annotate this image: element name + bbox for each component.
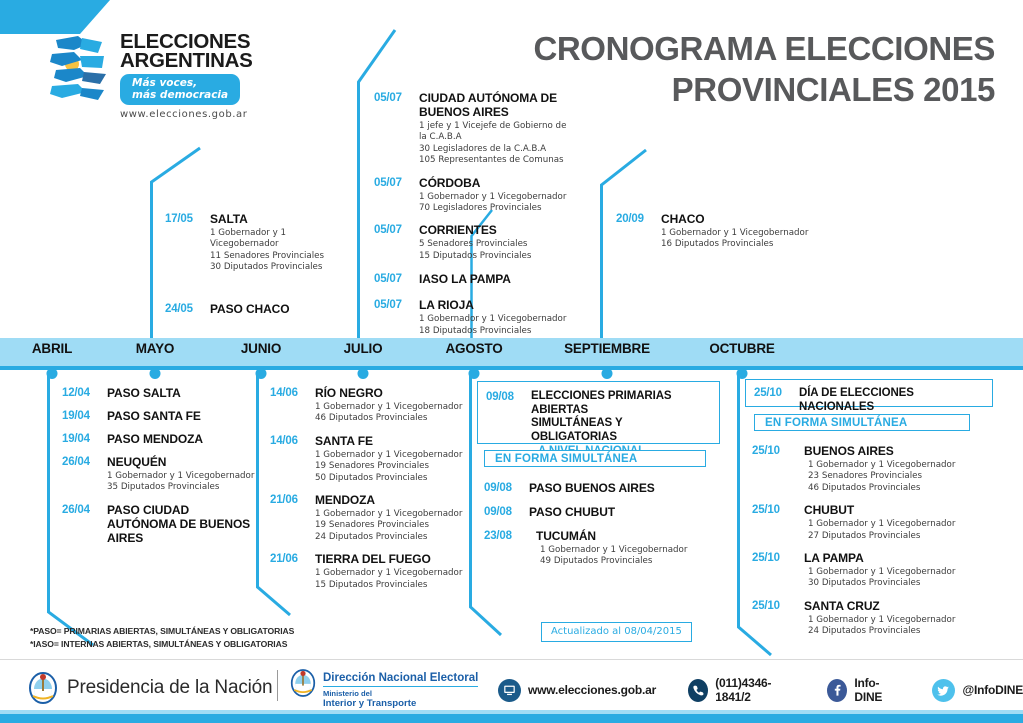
entry-iaso-la-pampa: 05/07 IASO LA PAMPA [374, 272, 574, 286]
entry-date: 25/10 [752, 599, 797, 613]
entry-name: CHACO [654, 212, 705, 226]
entry-salta: 17/05 SALTA 1 Gobernador y 1 Vicegoberna… [165, 212, 355, 274]
dne-ministry-prefix: Ministerio del [323, 689, 478, 698]
facebook-icon [827, 679, 847, 702]
entry-chaco: 20/09 CHACO 1 Gobernador y 1 Vicegoberna… [616, 212, 826, 251]
entry-chubut: 25/10 CHUBUT 1 Gobernador y 1 Vicegobern… [752, 503, 982, 542]
timeline-month-mayo[interactable]: MAYO [136, 341, 174, 356]
entry-date: 25/10 [752, 503, 797, 517]
argentina-map-icon [48, 34, 114, 104]
logo-slogan-line1: Más voces, [132, 77, 228, 89]
entry-details: 1 Gobernador y 1 Vicegobernador 23 Senad… [808, 460, 982, 494]
dne-ministry-name: Interior y Transporte [323, 698, 478, 709]
detail-line: 1 Gobernador y 1 Vicegobernador [315, 450, 470, 461]
detail-line: 1 Gobernador y 1 Vicegobernador [315, 509, 470, 520]
detail-line: 16 Diputados Provinciales [661, 239, 826, 250]
entry-details: 1 Gobernador y 1 Vicegobernador 18 Diput… [419, 314, 574, 337]
detail-line: 15 Diputados Provinciales [419, 251, 574, 262]
entry-date: 26/04 [62, 455, 100, 469]
entry-date: 19/04 [62, 409, 100, 423]
entry-date: 05/07 [374, 272, 412, 286]
entry-name: MENDOZA [308, 493, 375, 507]
entry-name: PASO CHUBUT [522, 505, 615, 519]
detail-line: 30 Diputados Provinciales [210, 262, 355, 273]
detail-line: 1 Gobernador y 1 Vicegobernador [315, 568, 470, 579]
detail-line: 70 Legisladores Provinciales [419, 203, 574, 214]
argentina-coat-of-arms-icon [290, 668, 316, 698]
detail-line: 105 Representantes de Comunas [419, 155, 574, 166]
entry-details: 1 Gobernador y 1 Vicegobernador 35 Diput… [107, 471, 262, 494]
detail-line: 23 Senadores Provinciales [808, 471, 982, 482]
timeline-dot-julio [358, 368, 369, 379]
logo-slogan: Más voces, más democracia [120, 74, 240, 105]
column-julio-top: 05/07 CIUDAD AUTÓNOMA DE BUENOS AIRES 1 … [374, 91, 574, 346]
detail-line: 1 Gobernador y 1 Vicegobernador [808, 519, 982, 530]
callout-elecciones-nacionales: 25/10 DÍA DE ELECCIONES NACIONALES [745, 379, 993, 407]
column-junio: 14/06 RÍO NEGRO 1 Gobernador y 1 Vicegob… [270, 386, 470, 600]
entry-name: IASO LA PAMPA [412, 272, 511, 286]
entry-paso-santa-fe: 19/04 PASO SANTA FE [62, 409, 262, 423]
presidencia-label: Presidencia de la Nación [58, 677, 272, 699]
phone-icon [688, 679, 708, 702]
detail-line: 11 Senadores Provinciales [210, 251, 355, 262]
detail-line: 1 Gobernador y 1 Vicegobernador [540, 545, 704, 556]
column-mayo-top: 17/05 SALTA 1 Gobernador y 1 Vicegoberna… [165, 212, 355, 325]
entry-name: CÓRDOBA [412, 176, 480, 190]
timeline-dot-septiembre [602, 368, 613, 379]
elecciones-argentinas-logo: ELECCIONES ARGENTINAS Más voces, más dem… [48, 32, 308, 110]
entry-details: 5 Senadores Provinciales 15 Diputados Pr… [419, 239, 574, 262]
entry-date: 25/10 [752, 444, 797, 458]
timeline-month-agosto[interactable]: AGOSTO [445, 341, 502, 356]
entry-paso-mendoza: 19/04 PASO MENDOZA [62, 432, 262, 446]
entry-name: LA RIOJA [412, 298, 474, 312]
entry-date: 19/04 [62, 432, 100, 446]
detail-line: 1 Gobernador y 1 Vicegobernador [210, 228, 355, 251]
detail-line: 1 Gobernador y 1 Vicegobernador [315, 402, 470, 413]
entry-paso-chubut: 09/08 PASO CHUBUT [484, 505, 704, 519]
entry-la-rioja: 05/07 LA RIOJA 1 Gobernador y 1 Vicegobe… [374, 298, 574, 337]
entry-date: 05/07 [374, 298, 412, 312]
detail-line: 30 Diputados Provinciales [808, 578, 982, 589]
corner-decoration [0, 0, 110, 34]
contact-phone[interactable]: (011)4346-1841/2 [688, 676, 795, 704]
entry-paso-chaco: 24/05 PASO CHACO [165, 302, 355, 316]
contact-website[interactable]: www.elecciones.gob.ar [498, 679, 656, 702]
detail-line: 19 Senadores Provinciales [315, 461, 470, 472]
entry-paso-buenos-aires: 09/08 PASO BUENOS AIRES [484, 481, 704, 495]
entry-name: PASO CHACO [203, 302, 289, 316]
detail-line: 27 Diputados Provinciales [808, 531, 982, 542]
entry-buenos-aires: 25/10 BUENOS AIRES 1 Gobernador y 1 Vice… [752, 444, 982, 494]
entry-date: 21/06 [270, 552, 308, 566]
detail-line: 46 Diputados Provinciales [315, 413, 470, 424]
entry-date: 09/08 [484, 505, 522, 519]
last-updated-badge: Actualizado al 08/04/2015 [541, 622, 692, 642]
footer-band [0, 714, 1023, 723]
timeline-month-julio[interactable]: JULIO [344, 341, 383, 356]
entry-details: 1 Gobernador y 1 Vicegobernador 24 Diput… [808, 615, 982, 638]
entry-details: 1 Gobernador y 1 Vicegobernador 30 Diput… [808, 567, 982, 590]
entry-name: LA PAMPA [797, 551, 864, 565]
entry-details: 1 Gobernador y 1 Vicegobernador 16 Diput… [661, 228, 826, 251]
entry-date: 21/06 [270, 493, 308, 507]
entry-date: 23/08 [484, 529, 529, 543]
contact-phone-label: (011)4346-1841/2 [715, 676, 795, 704]
timeline-month-septiembre[interactable]: SEPTIEMBRE [564, 341, 650, 356]
entry-santa-fe: 14/06 SANTA FE 1 Gobernador y 1 Vicegobe… [270, 434, 470, 484]
entry-details: 1 Gobernador y 1 Vicegobernador 11 Senad… [210, 228, 355, 274]
entry-caba: 05/07 CIUDAD AUTÓNOMA DE BUENOS AIRES 1 … [374, 91, 574, 167]
logo-url: www.elecciones.gob.ar [120, 109, 253, 120]
detail-line: 49 Diputados Provinciales [540, 556, 704, 567]
entry-details: 1 Gobernador y 1 Vicegobernador 19 Senad… [315, 509, 470, 543]
entry-date: 20/09 [616, 212, 654, 226]
footer-contacts: www.elecciones.gob.ar (011)4346-1841/2 I… [498, 676, 1023, 704]
timeline-dot-mayo [150, 368, 161, 379]
entry-details: 1 Gobernador y 1 Vicegobernador 46 Diput… [315, 402, 470, 425]
entry-details: 1 Gobernador y 1 Vicegobernador 15 Diput… [315, 568, 470, 591]
footer-separator [277, 670, 278, 701]
entry-date: 25/10 [754, 386, 792, 400]
entry-name: PASO SALTA [100, 386, 181, 400]
detail-line: 1 Gobernador y 1 Vicegobernador [419, 192, 574, 203]
contact-facebook[interactable]: Info-DINE [827, 676, 900, 704]
entry-santa-cruz: 25/10 SANTA CRUZ 1 Gobernador y 1 Vicego… [752, 599, 982, 638]
entry-cordoba: 05/07 CÓRDOBA 1 Gobernador y 1 Vicegober… [374, 176, 574, 215]
detail-line: 1 Gobernador y 1 Vicegobernador [808, 615, 982, 626]
callout-paso-nacional: 09/08 ELECCIONES PRIMARIAS ABIERTAS SIMU… [477, 381, 720, 444]
detail-line: 35 Diputados Provinciales [107, 482, 262, 493]
entry-name: TIERRA DEL FUEGO [308, 552, 431, 566]
dne-logo: Dirección Nacional Electoral Ministerio … [290, 668, 478, 709]
contact-twitter-label: @InfoDINE [962, 683, 1023, 697]
detail-line: 50 Diputados Provinciales [315, 473, 470, 484]
entry-date: 25/10 [752, 551, 797, 565]
simultaneous-label-octubre: EN FORMA SIMULTÁNEA [754, 414, 970, 431]
entry-date: 17/05 [165, 212, 203, 226]
detail-line: 18 Diputados Provinciales [419, 326, 574, 337]
argentina-coat-of-arms-icon [28, 672, 58, 704]
entry-date: 09/08 [486, 390, 524, 404]
footnote-paso: *PASO= PRIMARIAS ABIERTAS, SIMULTÁNEAS Y… [30, 625, 294, 638]
entry-details: 1 Gobernador y 1 Vicegobernador 19 Senad… [315, 450, 470, 484]
timeline-month-junio[interactable]: JUNIO [241, 341, 281, 356]
page-title-line1: CRONOGRAMA ELECCIONES [375, 28, 995, 69]
detail-line: 24 Diputados Provinciales [315, 532, 470, 543]
detail-line: 1 Gobernador y 1 Vicegobernador [107, 471, 262, 482]
callout-line2: SIMULTÁNEAS Y OBLIGATORIAS [531, 417, 622, 443]
entry-neuquen: 26/04 NEUQUÉN 1 Gobernador y 1 Vicegober… [62, 455, 262, 494]
entry-date: 05/07 [374, 176, 412, 190]
timeline-month-octubre[interactable]: OCTUBRE [709, 341, 774, 356]
entry-date: 05/07 [374, 91, 412, 105]
entry-name: PASO MENDOZA [100, 432, 203, 446]
detail-line: 5 Senadores Provinciales [419, 239, 574, 250]
detail-line: 1 Gobernador y 1 Vicegobernador [808, 460, 982, 471]
dne-title: Dirección Nacional Electoral [323, 672, 478, 687]
entry-details: 1 jefe y 1 Vicejefe de Gobierno de la C.… [419, 121, 574, 167]
entry-name: NEUQUÉN [100, 455, 166, 469]
entry-name: TUCUMÁN [529, 529, 596, 543]
footnote-iaso: *IASO= INTERNAS ABIERTAS, SIMULTÁNEAS Y … [30, 638, 294, 651]
entry-date: 05/07 [374, 223, 412, 237]
footnotes: *PASO= PRIMARIAS ABIERTAS, SIMULTÁNEAS Y… [30, 625, 294, 650]
detail-line: 1 Gobernador y 1 Vicegobernador [808, 567, 982, 578]
entry-rio-negro: 14/06 RÍO NEGRO 1 Gobernador y 1 Vicegob… [270, 386, 470, 425]
entry-date: 09/08 [484, 481, 522, 495]
entry-paso-salta: 12/04 PASO SALTA [62, 386, 262, 400]
callout-title: ELECCIONES PRIMARIAS ABIERTAS SIMULTÁNEA… [524, 390, 709, 459]
presidencia-logo: Presidencia de la Nación [28, 672, 272, 704]
simultaneous-label-agosto: EN FORMA SIMULTÁNEA [484, 450, 706, 467]
contact-website-label: www.elecciones.gob.ar [528, 683, 656, 697]
column-septiembre-top: 20/09 CHACO 1 Gobernador y 1 Vicegoberna… [616, 212, 826, 260]
footer-divider [0, 659, 1023, 660]
entry-date: 26/04 [62, 503, 100, 517]
contact-twitter[interactable]: @InfoDINE [932, 679, 1023, 702]
entry-mendoza: 21/06 MENDOZA 1 Gobernador y 1 Vicegober… [270, 493, 470, 543]
column-agosto: 09/08 PASO BUENOS AIRES 09/08 PASO CHUBU… [484, 481, 704, 577]
timeline-month-abril[interactable]: ABRIL [32, 341, 72, 356]
entry-name: SALTA [203, 212, 248, 226]
detail-line: 1 Gobernador y 1 Vicegobernador [419, 314, 574, 325]
detail-line: 30 Legisladores de la C.A.B.A [419, 144, 574, 155]
column-octubre: 25/10 BUENOS AIRES 1 Gobernador y 1 Vice… [752, 444, 982, 647]
entry-name: CIUDAD AUTÓNOMA DE BUENOS AIRES [412, 91, 559, 119]
entry-name: BUENOS AIRES [797, 444, 894, 458]
contact-facebook-label: Info-DINE [854, 676, 900, 704]
entry-details: 1 Gobernador y 1 Vicegobernador 27 Diput… [808, 519, 982, 542]
entry-tucuman: 23/08 TUCUMÁN 1 Gobernador y 1 Vicegober… [484, 529, 704, 568]
logo-slogan-line2: más democracia [132, 89, 228, 101]
callout-title: DÍA DE ELECCIONES NACIONALES [792, 386, 984, 414]
entry-name: CORRIENTES [412, 223, 497, 237]
column-abril: 12/04 PASO SALTA 19/04 PASO SANTA FE 19/… [62, 386, 262, 554]
detail-line: 1 Gobernador y 1 Vicegobernador [661, 228, 826, 239]
entry-name: SANTA CRUZ [797, 599, 880, 613]
detail-line: 15 Diputados Provinciales [315, 580, 470, 591]
entry-name: CHUBUT [797, 503, 854, 517]
entry-date: 12/04 [62, 386, 100, 400]
callout-line1: ELECCIONES PRIMARIAS ABIERTAS [531, 390, 672, 416]
logo-title-line2: ARGENTINAS [120, 51, 253, 70]
entry-details: 1 Gobernador y 1 Vicegobernador 70 Legis… [419, 192, 574, 215]
detail-line: 19 Senadores Provinciales [315, 520, 470, 531]
entry-details: 1 Gobernador y 1 Vicegobernador 49 Diput… [540, 545, 704, 568]
entry-date: 24/05 [165, 302, 203, 316]
entry-tierra-del-fuego: 21/06 TIERRA DEL FUEGO 1 Gobernador y 1 … [270, 552, 470, 591]
entry-date: 14/06 [270, 386, 308, 400]
entry-paso-caba: 26/04 PASO CIUDAD AUTÓNOMA DE BUENOS AIR… [62, 503, 262, 545]
entry-date: 14/06 [270, 434, 308, 448]
entry-name: PASO CIUDAD AUTÓNOMA DE BUENOS AIRES [100, 503, 257, 545]
entry-name: PASO SANTA FE [100, 409, 201, 423]
detail-line: 24 Diputados Provinciales [808, 626, 982, 637]
entry-corrientes: 05/07 CORRIENTES 5 Senadores Provinciale… [374, 223, 574, 262]
detail-line: 1 jefe y 1 Vicejefe de Gobierno de la C.… [419, 121, 574, 144]
entry-name: SANTA FE [308, 434, 373, 448]
monitor-icon [498, 679, 521, 702]
entry-name: PASO BUENOS AIRES [522, 481, 655, 495]
entry-name: RÍO NEGRO [308, 386, 383, 400]
twitter-icon [932, 679, 955, 702]
entry-la-pampa: 25/10 LA PAMPA 1 Gobernador y 1 Vicegobe… [752, 551, 982, 590]
detail-line: 46 Diputados Provinciales [808, 483, 982, 494]
